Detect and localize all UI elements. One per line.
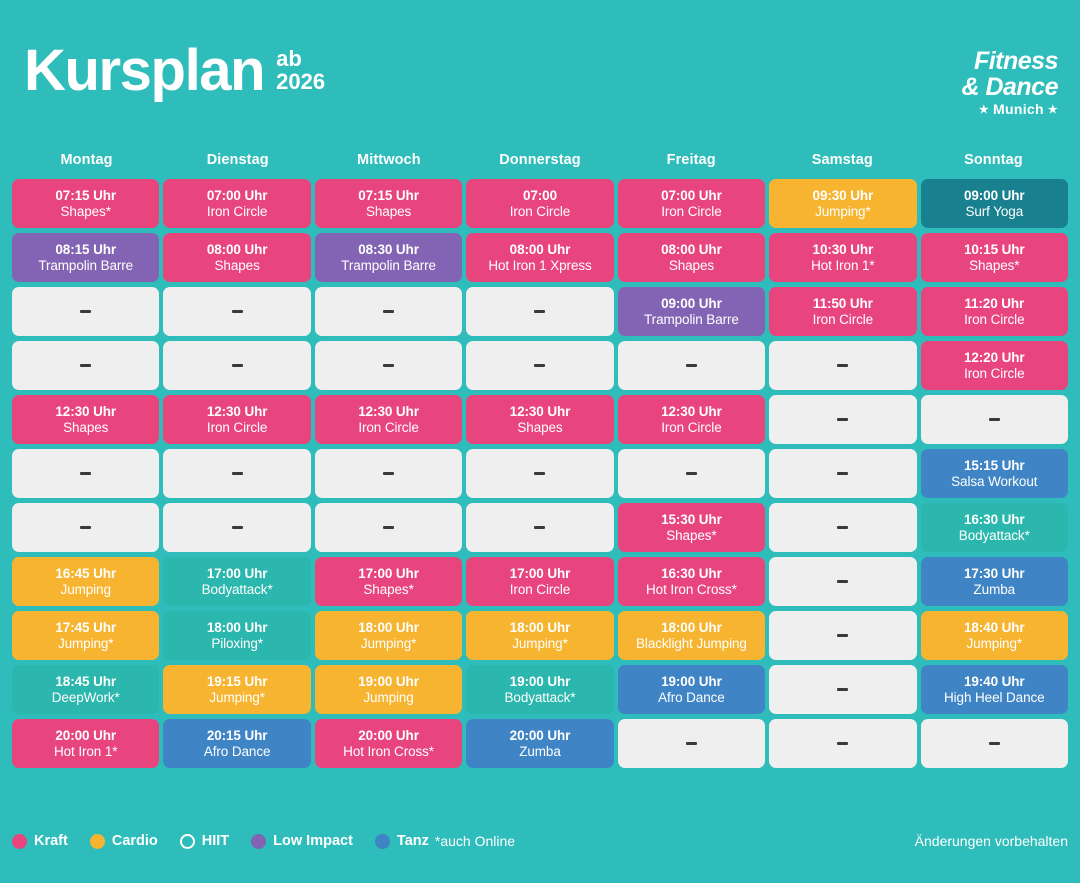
day-header-samstag: Samstag: [768, 150, 917, 173]
schedule-cell-class[interactable]: 11:20 UhrIron Circle: [921, 287, 1068, 336]
class-name: Iron Circle: [964, 366, 1024, 381]
class-name: Shapes: [215, 258, 260, 273]
empty-dash-icon: [232, 526, 243, 529]
class-time: 16:30 Uhr: [964, 512, 1025, 527]
schedule-cell-empty: [769, 557, 916, 606]
class-name: Trampolin Barre: [341, 258, 436, 273]
schedule-cell-class[interactable]: 12:20 UhrIron Circle: [921, 341, 1068, 390]
class-time: 07:00 Uhr: [207, 188, 268, 203]
class-name: Shapes: [669, 258, 714, 273]
schedule-cell-class[interactable]: 07:15 UhrShapes*: [12, 179, 159, 228]
title-sub-line2: 2026: [276, 70, 325, 93]
legend-dot-tanz-icon: [375, 834, 390, 849]
class-time: 09:00 Uhr: [964, 188, 1025, 203]
logo-line-dance: & Dance: [961, 75, 1058, 100]
schedule-cell-class[interactable]: 20:00 UhrHot Iron 1*: [12, 719, 159, 768]
schedule-cell-empty: [921, 395, 1068, 444]
class-name: Iron Circle: [510, 204, 570, 219]
schedule-cell-class[interactable]: 10:15 UhrShapes*: [921, 233, 1068, 282]
class-time: 19:40 Uhr: [964, 674, 1025, 689]
class-time: 12:30 Uhr: [207, 404, 268, 419]
class-time: 17:00 Uhr: [358, 566, 419, 581]
class-name: Trampolin Barre: [644, 312, 739, 327]
schedule-cell-empty: [769, 719, 916, 768]
empty-dash-icon: [686, 742, 697, 745]
schedule-cell-class[interactable]: 20:00 UhrHot Iron Cross*: [315, 719, 462, 768]
class-time: 16:45 Uhr: [55, 566, 116, 581]
class-name: Shapes: [517, 420, 562, 435]
class-time: 17:30 Uhr: [964, 566, 1025, 581]
class-name: High Heel Dance: [944, 690, 1045, 705]
schedule-cell-empty: [921, 719, 1068, 768]
class-time: 07:15 Uhr: [55, 188, 116, 203]
class-name: Afro Dance: [658, 690, 725, 705]
class-time: 19:15 Uhr: [207, 674, 268, 689]
schedule-cell-empty: [769, 341, 916, 390]
legend-item-kraft: Kraft: [12, 833, 68, 849]
schedule-cell-empty: [618, 719, 765, 768]
logo-line-munich: ★ Munich ★: [979, 101, 1058, 117]
legend-label: Kraft: [34, 833, 68, 849]
schedule-cell-class[interactable]: 19:40 UhrHigh Heel Dance: [921, 665, 1068, 714]
schedule-cell-empty: [315, 341, 462, 390]
class-time: 18:00 Uhr: [358, 620, 419, 635]
class-time: 07:00: [523, 188, 557, 203]
class-time: 08:30 Uhr: [358, 242, 419, 257]
schedule-cell-empty: [618, 449, 765, 498]
class-time: 08:00 Uhr: [661, 242, 722, 257]
schedule-cell-class[interactable]: 07:00Iron Circle: [466, 179, 613, 228]
schedule-grid: 07:15 UhrShapes*07:00 UhrIron Circle07:1…: [12, 179, 1068, 768]
star-icon-left: ★: [979, 103, 989, 116]
logo-munich-text: Munich: [993, 101, 1044, 117]
schedule-cell-class[interactable]: 08:00 UhrShapes: [618, 233, 765, 282]
class-name: Piloxing*: [211, 636, 263, 651]
schedule-cell-empty: [12, 287, 159, 336]
empty-dash-icon: [837, 688, 848, 691]
class-time: 12:30 Uhr: [55, 404, 116, 419]
class-name: Jumping*: [361, 636, 416, 651]
class-time: 12:20 Uhr: [964, 350, 1025, 365]
class-name: Hot Iron Cross*: [343, 744, 434, 759]
class-name: Shapes: [366, 204, 411, 219]
empty-dash-icon: [989, 418, 1000, 421]
legend-label: Tanz: [397, 833, 429, 849]
empty-dash-icon: [534, 526, 545, 529]
class-time: 10:30 Uhr: [813, 242, 874, 257]
empty-dash-icon: [989, 742, 1000, 745]
schedule-cell-class[interactable]: 12:30 UhrShapes: [12, 395, 159, 444]
class-time: 15:15 Uhr: [964, 458, 1025, 473]
schedule-cell-class[interactable]: 18:00 UhrJumping*: [315, 611, 462, 660]
empty-dash-icon: [383, 472, 394, 475]
class-name: Jumping*: [58, 636, 113, 651]
empty-dash-icon: [232, 310, 243, 313]
day-header-freitag: Freitag: [617, 150, 766, 173]
empty-dash-icon: [534, 310, 545, 313]
schedule-cell-class[interactable]: 12:30 UhrShapes: [466, 395, 613, 444]
empty-dash-icon: [80, 310, 91, 313]
class-name: Hot Iron Cross*: [646, 582, 737, 597]
schedule-cell-class[interactable]: 18:40 UhrJumping*: [921, 611, 1068, 660]
empty-dash-icon: [686, 472, 697, 475]
schedule-cell-empty: [12, 449, 159, 498]
schedule-grid-wrapper: MontagDienstagMittwochDonnerstagFreitagS…: [12, 150, 1068, 768]
schedule-cell-class[interactable]: 20:15 UhrAfro Dance: [163, 719, 310, 768]
day-header-row: MontagDienstagMittwochDonnerstagFreitagS…: [12, 150, 1068, 173]
legend-bar: KraftCardioHIITLow ImpactTanz *auch Onli…: [12, 826, 1068, 856]
class-name: Jumping*: [967, 636, 1022, 651]
empty-dash-icon: [837, 472, 848, 475]
class-time: 12:30 Uhr: [661, 404, 722, 419]
class-time: 18:00 Uhr: [661, 620, 722, 635]
day-header-sonntag: Sonntag: [919, 150, 1068, 173]
legend-dot-hiit-icon: [180, 834, 195, 849]
class-time: 12:30 Uhr: [358, 404, 419, 419]
schedule-cell-class[interactable]: 07:00 UhrIron Circle: [163, 179, 310, 228]
class-time: 19:00 Uhr: [510, 674, 571, 689]
star-icon-right: ★: [1048, 103, 1058, 116]
schedule-cell-empty: [163, 449, 310, 498]
class-name: Iron Circle: [661, 204, 721, 219]
legend-online-note: *auch Online: [435, 833, 515, 849]
class-name: Iron Circle: [510, 582, 570, 597]
class-name: Jumping: [61, 582, 111, 597]
empty-dash-icon: [383, 526, 394, 529]
class-name: Iron Circle: [813, 312, 873, 327]
legend-dot-lowimpact-icon: [251, 834, 266, 849]
schedule-cell-class[interactable]: 18:45 UhrDeepWork*: [12, 665, 159, 714]
class-time: 20:00 Uhr: [510, 728, 571, 743]
schedule-cell-class[interactable]: 18:00 UhrJumping*: [466, 611, 613, 660]
schedule-cell-class[interactable]: 12:30 UhrIron Circle: [618, 395, 765, 444]
class-name: Shapes*: [363, 582, 413, 597]
schedule-cell-empty: [769, 449, 916, 498]
legend-item-lowimpact: Low Impact: [251, 833, 353, 849]
class-name: Surf Yoga: [965, 204, 1023, 219]
schedule-cell-class[interactable]: 19:00 UhrJumping: [315, 665, 462, 714]
schedule-cell-empty: [466, 449, 613, 498]
empty-dash-icon: [837, 364, 848, 367]
class-time: 09:00 Uhr: [661, 296, 722, 311]
class-name: Shapes*: [969, 258, 1019, 273]
empty-dash-icon: [80, 526, 91, 529]
schedule-cell-empty: [315, 503, 462, 552]
schedule-cell-empty: [315, 287, 462, 336]
class-name: Bodyattack*: [505, 690, 576, 705]
schedule-cell-empty: [12, 341, 159, 390]
class-time: 08:00 Uhr: [207, 242, 268, 257]
schedule-cell-class[interactable]: 08:00 UhrShapes: [163, 233, 310, 282]
class-name: DeepWork*: [52, 690, 120, 705]
schedule-cell-empty: [618, 341, 765, 390]
class-time: 19:00 Uhr: [661, 674, 722, 689]
schedule-cell-class[interactable]: 07:15 UhrShapes: [315, 179, 462, 228]
schedule-cell-empty: [315, 449, 462, 498]
title-block: Kursplan ab 2026: [24, 44, 325, 97]
day-header-dienstag: Dienstag: [163, 150, 312, 173]
schedule-cell-class[interactable]: 16:45 UhrJumping: [12, 557, 159, 606]
class-name: Jumping: [363, 690, 413, 705]
page-title: Kursplan: [24, 44, 264, 97]
schedule-cell-empty: [769, 395, 916, 444]
class-time: 20:00 Uhr: [55, 728, 116, 743]
logo-line-fitness: Fitness: [974, 49, 1058, 74]
legend-label: Cardio: [112, 833, 158, 849]
legend-item-cardio: Cardio: [90, 833, 158, 849]
kursplan-page: Kursplan ab 2026 Fitness & Dance ★ Munic…: [0, 0, 1080, 883]
schedule-cell-class[interactable]: 19:00 UhrBodyattack*: [466, 665, 613, 714]
schedule-cell-class[interactable]: 19:00 UhrAfro Dance: [618, 665, 765, 714]
schedule-cell-class[interactable]: 17:00 UhrShapes*: [315, 557, 462, 606]
schedule-cell-class[interactable]: 12:30 UhrIron Circle: [315, 395, 462, 444]
schedule-cell-empty: [163, 287, 310, 336]
schedule-cell-class[interactable]: 17:30 UhrZumba: [921, 557, 1068, 606]
schedule-cell-class[interactable]: 07:00 UhrIron Circle: [618, 179, 765, 228]
class-name: Hot Iron 1 Xpress: [488, 258, 591, 273]
schedule-cell-class[interactable]: 15:15 UhrSalsa Workout: [921, 449, 1068, 498]
empty-dash-icon: [837, 742, 848, 745]
class-time: 18:45 Uhr: [55, 674, 116, 689]
class-time: 19:00 Uhr: [358, 674, 419, 689]
empty-dash-icon: [80, 472, 91, 475]
schedule-cell-class[interactable]: 12:30 UhrIron Circle: [163, 395, 310, 444]
title-subtitle: ab 2026: [276, 47, 325, 98]
schedule-cell-empty: [466, 341, 613, 390]
schedule-cell-empty: [769, 665, 916, 714]
class-name: Jumping*: [209, 690, 264, 705]
schedule-cell-class[interactable]: 08:30 UhrTrampolin Barre: [315, 233, 462, 282]
schedule-cell-class[interactable]: 08:00 UhrHot Iron 1 Xpress: [466, 233, 613, 282]
class-time: 08:00 Uhr: [510, 242, 571, 257]
class-time: 09:30 Uhr: [813, 188, 874, 203]
class-time: 18:00 Uhr: [510, 620, 571, 635]
empty-dash-icon: [383, 364, 394, 367]
legend-item-tanz: Tanz: [375, 833, 429, 849]
legend-items: KraftCardioHIITLow ImpactTanz: [12, 833, 429, 849]
class-name: Jumping*: [512, 636, 567, 651]
schedule-cell-class[interactable]: 16:30 UhrHot Iron Cross*: [618, 557, 765, 606]
schedule-cell-class[interactable]: 17:00 UhrIron Circle: [466, 557, 613, 606]
schedule-cell-class[interactable]: 15:30 UhrShapes*: [618, 503, 765, 552]
empty-dash-icon: [232, 364, 243, 367]
empty-dash-icon: [837, 526, 848, 529]
class-time: 20:15 Uhr: [207, 728, 268, 743]
class-time: 11:50 Uhr: [813, 296, 873, 311]
class-name: Jumping*: [815, 204, 870, 219]
schedule-cell-class[interactable]: 09:30 UhrJumping*: [769, 179, 916, 228]
schedule-cell-class[interactable]: 09:00 UhrTrampolin Barre: [618, 287, 765, 336]
empty-dash-icon: [534, 364, 545, 367]
class-name: Shapes: [63, 420, 108, 435]
schedule-cell-empty: [769, 611, 916, 660]
class-time: 07:00 Uhr: [661, 188, 722, 203]
schedule-cell-class[interactable]: 08:15 UhrTrampolin Barre: [12, 233, 159, 282]
class-name: Zumba: [974, 582, 1016, 597]
empty-dash-icon: [534, 472, 545, 475]
page-header: Kursplan ab 2026 Fitness & Dance ★ Munic…: [0, 0, 1080, 148]
class-name: Salsa Workout: [951, 474, 1037, 489]
class-time: 12:30 Uhr: [510, 404, 571, 419]
schedule-cell-class[interactable]: 20:00 UhrZumba: [466, 719, 613, 768]
class-name: Blacklight Jumping: [636, 636, 747, 651]
schedule-cell-empty: [12, 503, 159, 552]
class-time: 17:00 Uhr: [510, 566, 571, 581]
class-name: Iron Circle: [661, 420, 721, 435]
title-sub-line1: ab: [276, 47, 325, 70]
schedule-cell-class[interactable]: 10:30 UhrHot Iron 1*: [769, 233, 916, 282]
class-time: 11:20 Uhr: [964, 296, 1024, 311]
class-name: Zumba: [519, 744, 561, 759]
schedule-cell-class[interactable]: 09:00 UhrSurf Yoga: [921, 179, 1068, 228]
class-time: 07:15 Uhr: [358, 188, 419, 203]
class-time: 16:30 Uhr: [661, 566, 722, 581]
schedule-cell-empty: [163, 341, 310, 390]
empty-dash-icon: [383, 310, 394, 313]
class-name: Bodyattack*: [959, 528, 1030, 543]
schedule-cell-class[interactable]: 18:00 UhrBlacklight Jumping: [618, 611, 765, 660]
schedule-cell-class[interactable]: 18:00 UhrPiloxing*: [163, 611, 310, 660]
class-time: 08:15 Uhr: [55, 242, 116, 257]
class-time: 15:30 Uhr: [661, 512, 722, 527]
empty-dash-icon: [837, 580, 848, 583]
legend-item-hiit: HIIT: [180, 833, 229, 849]
day-header-montag: Montag: [12, 150, 161, 173]
class-name: Hot Iron 1*: [54, 744, 117, 759]
empty-dash-icon: [686, 364, 697, 367]
class-time: 17:45 Uhr: [55, 620, 116, 635]
class-time: 20:00 Uhr: [358, 728, 419, 743]
schedule-cell-class[interactable]: 17:00 UhrBodyattack*: [163, 557, 310, 606]
class-time: 17:00 Uhr: [207, 566, 268, 581]
brand-logo: Fitness & Dance ★ Munich ★: [930, 40, 1058, 126]
class-name: Shapes*: [666, 528, 716, 543]
class-name: Iron Circle: [207, 204, 267, 219]
class-name: Iron Circle: [207, 420, 267, 435]
empty-dash-icon: [837, 634, 848, 637]
class-name: Iron Circle: [964, 312, 1024, 327]
legend-label: Low Impact: [273, 833, 353, 849]
day-header-mittwoch: Mittwoch: [314, 150, 463, 173]
empty-dash-icon: [80, 364, 91, 367]
schedule-cell-empty: [466, 503, 613, 552]
day-header-donnerstag: Donnerstag: [465, 150, 614, 173]
schedule-cell-class[interactable]: 19:15 UhrJumping*: [163, 665, 310, 714]
class-name: Iron Circle: [358, 420, 418, 435]
class-name: Shapes*: [61, 204, 111, 219]
class-name: Hot Iron 1*: [811, 258, 874, 273]
schedule-cell-empty: [466, 287, 613, 336]
schedule-cell-empty: [163, 503, 310, 552]
class-name: Afro Dance: [204, 744, 271, 759]
class-time: 10:15 Uhr: [964, 242, 1025, 257]
schedule-cell-class[interactable]: 11:50 UhrIron Circle: [769, 287, 916, 336]
legend-dot-kraft-icon: [12, 834, 27, 849]
class-name: Trampolin Barre: [38, 258, 133, 273]
schedule-cell-class[interactable]: 17:45 UhrJumping*: [12, 611, 159, 660]
class-name: Bodyattack*: [202, 582, 273, 597]
legend-label: HIIT: [202, 833, 229, 849]
legend-dot-cardio-icon: [90, 834, 105, 849]
legend-disclaimer: Änderungen vorbehalten: [915, 833, 1068, 849]
schedule-cell-empty: [769, 503, 916, 552]
class-time: 18:40 Uhr: [964, 620, 1025, 635]
class-time: 18:00 Uhr: [207, 620, 268, 635]
schedule-cell-class[interactable]: 16:30 UhrBodyattack*: [921, 503, 1068, 552]
empty-dash-icon: [232, 472, 243, 475]
empty-dash-icon: [837, 418, 848, 421]
